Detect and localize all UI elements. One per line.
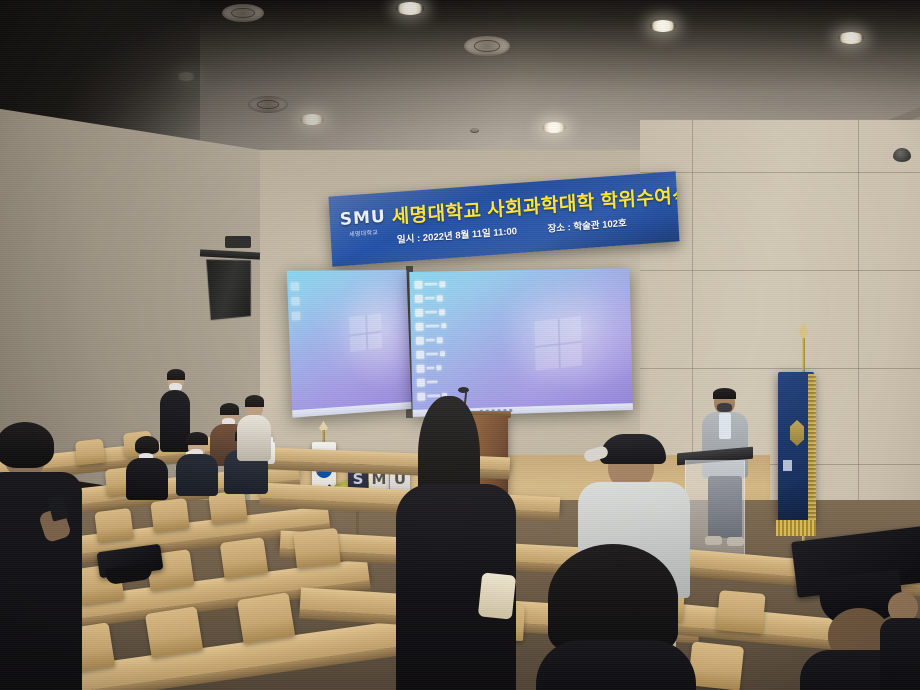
lecture-chair[interactable] bbox=[293, 528, 341, 568]
lecture-hall-photo: SMU 세명대학교 세명대학교 사회과학대학 학위수여식 일시 : 2022년 … bbox=[0, 0, 920, 690]
desktop-icon-column bbox=[290, 281, 307, 326]
desktop-icon[interactable] bbox=[415, 308, 423, 316]
right-edge-attendee bbox=[884, 592, 920, 690]
seated-graduate bbox=[176, 436, 218, 492]
handbag bbox=[478, 572, 516, 619]
desktop-icon[interactable] bbox=[292, 311, 301, 320]
speaker-hair bbox=[713, 388, 736, 399]
desktop-icon[interactable] bbox=[414, 280, 422, 288]
lecture-chair[interactable] bbox=[150, 498, 189, 532]
foreground-graduate-center bbox=[396, 396, 516, 690]
face-mask-icon bbox=[717, 403, 732, 412]
windows-logo-icon bbox=[534, 316, 582, 371]
standing-staff bbox=[236, 398, 272, 450]
speaker-shirt bbox=[719, 413, 731, 439]
ceiling-mount bbox=[225, 236, 251, 248]
lecture-chair[interactable] bbox=[220, 537, 269, 579]
flag-fringe bbox=[808, 374, 816, 524]
lecture-chair[interactable] bbox=[94, 508, 133, 542]
windows-logo-icon bbox=[349, 313, 382, 352]
desktop-icon[interactable] bbox=[416, 350, 424, 358]
desktop-icon[interactable] bbox=[290, 282, 299, 291]
lecture-chair[interactable] bbox=[716, 590, 765, 634]
smu-logo-mark: SMU bbox=[335, 208, 390, 229]
lecture-chair[interactable] bbox=[688, 641, 744, 690]
foreground-head bbox=[536, 544, 696, 690]
dome-camera-icon bbox=[893, 148, 911, 162]
seated-graduate bbox=[126, 440, 168, 496]
desktop-icon[interactable] bbox=[415, 294, 423, 302]
lecture-chair[interactable] bbox=[237, 592, 295, 644]
projection-screen-left bbox=[287, 270, 412, 418]
baseball-cap bbox=[600, 434, 666, 464]
smu-logo: SMU 세명대학교 bbox=[335, 208, 390, 239]
desktop-icon[interactable] bbox=[291, 296, 300, 305]
standing-attendant bbox=[158, 400, 192, 426]
desktop-icon[interactable] bbox=[415, 322, 423, 330]
foreground-graduate-left bbox=[0, 432, 88, 690]
desktop-icon[interactable] bbox=[416, 364, 424, 372]
university-emblem-icon bbox=[790, 420, 804, 446]
flag-badge-icon bbox=[783, 460, 792, 471]
microphone-icon bbox=[458, 387, 469, 393]
lecture-chair[interactable] bbox=[145, 606, 203, 658]
desktop-icon[interactable] bbox=[417, 378, 425, 386]
desktop-icon[interactable] bbox=[416, 336, 424, 344]
desktop-icon-column bbox=[414, 279, 461, 406]
wall-loudspeaker bbox=[206, 256, 253, 320]
projection-screen-right bbox=[409, 268, 633, 417]
